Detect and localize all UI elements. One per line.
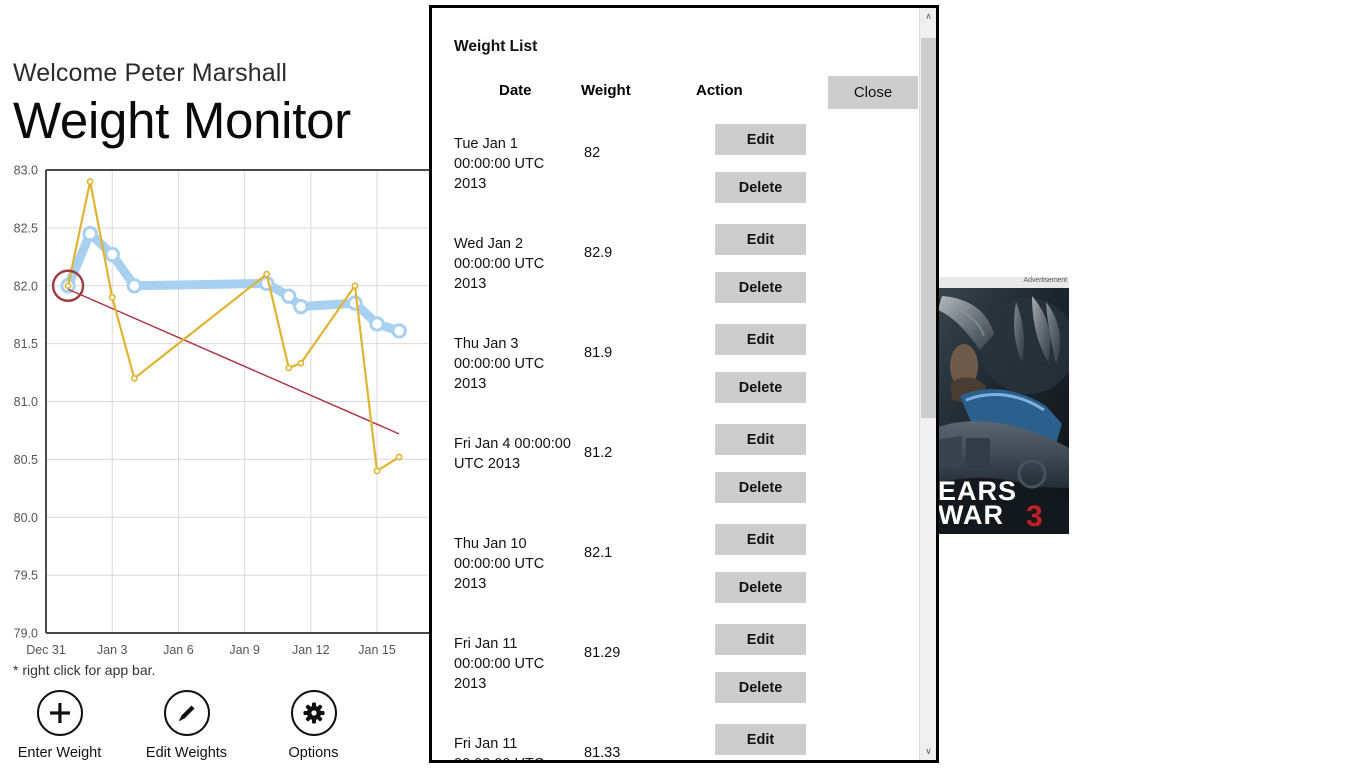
pencil-icon-glyph — [174, 700, 200, 726]
table-row: Fri Jan 11 00:00:00 UTC 201381.33EditDel… — [432, 720, 922, 763]
row-date: Fri Jan 11 00:00:00 UTC 2013 — [454, 634, 572, 694]
y-tick-label: 79.0 — [14, 627, 38, 641]
table-row: Thu Jan 10 00:00:00 UTC 201382.1EditDele… — [432, 520, 922, 620]
delete-button[interactable]: Delete — [715, 172, 806, 203]
weight-list-dialog: Weight List Date Weight Action Close Tue… — [429, 5, 939, 763]
edit-button[interactable]: Edit — [715, 224, 806, 255]
row-date: Fri Jan 11 00:00:00 UTC 2013 — [454, 734, 572, 763]
app-page: Welcome Peter Marshall Weight Monitor 79… — [0, 0, 430, 768]
weight-list-content: Weight List Date Weight Action Close Tue… — [432, 8, 922, 760]
x-tick-label: Jan 15 — [358, 643, 396, 657]
row-weight: 82.1 — [584, 545, 612, 561]
enter-weight-label: Enter Weight — [18, 745, 102, 761]
row-weight: 81.2 — [584, 445, 612, 461]
y-tick-label: 82.0 — [14, 279, 38, 293]
y-tick-label: 79.5 — [14, 569, 38, 583]
chart-canvas: 79.079.580.080.581.081.582.082.583.0Dec … — [0, 162, 430, 662]
x-tick-label: Jan 9 — [229, 643, 260, 657]
edit-button[interactable]: Edit — [715, 324, 806, 355]
row-weight: 82 — [584, 145, 600, 161]
row-date: Tue Jan 1 00:00:00 UTC 2013 — [454, 134, 572, 194]
series-trend — [68, 289, 399, 434]
table-row: Fri Jan 11 00:00:00 UTC 201381.29EditDel… — [432, 620, 922, 720]
plus-icon-glyph — [47, 700, 73, 726]
row-weight: 81.9 — [584, 345, 612, 361]
svg-text:3: 3 — [1026, 500, 1043, 533]
delete-button[interactable]: Delete — [715, 572, 806, 603]
delete-button[interactable]: Delete — [715, 372, 806, 403]
delete-button[interactable]: Delete — [715, 272, 806, 303]
svg-text:WAR: WAR — [938, 500, 1004, 530]
scroll-up-icon[interactable]: ∧ — [920, 8, 937, 25]
y-tick-label: 80.5 — [14, 453, 38, 467]
ad-art-svg: EARS WAR 3 — [936, 288, 1069, 534]
weight-chart: 79.079.580.080.581.081.582.082.583.0Dec … — [0, 162, 430, 662]
appbar-hint: * right click for app bar. — [13, 662, 155, 678]
y-tick-label: 83.0 — [14, 164, 38, 178]
scrollbar-thumb[interactable] — [921, 38, 936, 418]
scroll-down-icon[interactable]: ∨ — [920, 743, 937, 760]
edit-button[interactable]: Edit — [715, 524, 806, 555]
gear-icon-glyph — [301, 700, 327, 726]
row-date: Thu Jan 3 00:00:00 UTC 2013 — [454, 334, 572, 394]
advertisement-label: Advertisement — [1024, 277, 1067, 284]
table-row: Fri Jan 4 00:00:00 UTC 201381.2EditDelet… — [432, 420, 922, 520]
edit-button[interactable]: Edit — [715, 724, 806, 755]
app-bar: Enter Weight Edit Weights — [13, 690, 360, 761]
edit-button[interactable]: Edit — [715, 124, 806, 155]
row-weight: 81.33 — [584, 745, 620, 761]
close-button[interactable]: Close — [828, 76, 918, 109]
x-tick-label: Dec 31 — [26, 643, 66, 657]
series-weight — [65, 179, 401, 474]
dialog-scrollbar[interactable]: ∧ ∨ — [919, 8, 936, 760]
table-row: Wed Jan 2 00:00:00 UTC 201382.9EditDelet… — [432, 220, 922, 320]
enter-weight-button[interactable]: Enter Weight — [13, 690, 106, 761]
row-date: Wed Jan 2 00:00:00 UTC 2013 — [454, 234, 572, 294]
advertisement-artwork: EARS WAR 3 — [936, 288, 1069, 534]
options-button[interactable]: Options — [267, 690, 360, 761]
x-tick-label: Jan 3 — [97, 643, 128, 657]
screen: Welcome Peter Marshall Weight Monitor 79… — [0, 0, 1366, 768]
y-tick-label: 81.0 — [14, 395, 38, 409]
edit-weights-label: Edit Weights — [146, 745, 227, 761]
options-label: Options — [289, 745, 339, 761]
y-tick-label: 80.0 — [14, 511, 38, 525]
advertisement[interactable]: Advertisement — [936, 277, 1069, 534]
y-tick-label: 82.5 — [14, 221, 38, 235]
delete-button[interactable]: Delete — [715, 472, 806, 503]
column-header-weight: Weight — [581, 82, 631, 99]
row-date: Thu Jan 10 00:00:00 UTC 2013 — [454, 534, 572, 594]
series-moving-average — [62, 227, 405, 337]
row-date: Fri Jan 4 00:00:00 UTC 2013 — [454, 434, 572, 474]
row-weight: 82.9 — [584, 245, 612, 261]
plus-icon — [37, 690, 83, 736]
edit-button[interactable]: Edit — [715, 424, 806, 455]
x-tick-label: Jan 12 — [292, 643, 330, 657]
delete-button[interactable]: Delete — [715, 672, 806, 703]
column-header-action: Action — [696, 82, 743, 99]
column-header-date: Date — [499, 82, 532, 99]
welcome-text: Welcome Peter Marshall — [13, 59, 287, 88]
y-tick-label: 81.5 — [14, 337, 38, 351]
dialog-title: Weight List — [454, 38, 537, 56]
weight-list-rows: Tue Jan 1 00:00:00 UTC 201382EditDeleteW… — [432, 120, 922, 763]
edit-weights-button[interactable]: Edit Weights — [140, 690, 233, 761]
edit-button[interactable]: Edit — [715, 624, 806, 655]
row-weight: 81.29 — [584, 645, 620, 661]
table-row: Thu Jan 3 00:00:00 UTC 201381.9EditDelet… — [432, 320, 922, 420]
x-tick-label: Jan 6 — [163, 643, 194, 657]
page-title: Weight Monitor — [13, 94, 351, 148]
pencil-icon — [164, 690, 210, 736]
table-row: Tue Jan 1 00:00:00 UTC 201382EditDelete — [432, 120, 922, 220]
gear-icon — [291, 690, 337, 736]
